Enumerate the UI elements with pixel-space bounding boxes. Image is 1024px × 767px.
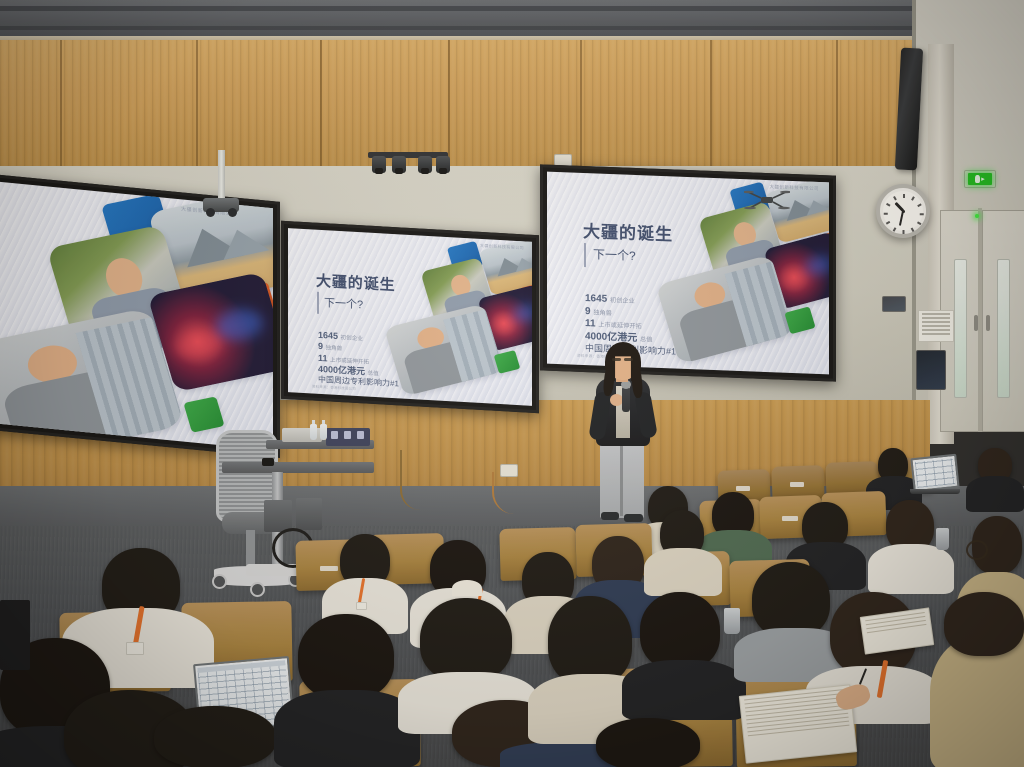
slide-accent-rule bbox=[317, 292, 319, 314]
audience-shoulders bbox=[966, 476, 1024, 512]
chair-caster bbox=[212, 574, 227, 589]
floor-equipment-case bbox=[0, 600, 30, 670]
av-cart-equipment-box bbox=[296, 498, 322, 530]
audience-head bbox=[548, 596, 632, 686]
wood-panel-seam bbox=[836, 40, 838, 168]
projector-lens-icon bbox=[228, 208, 237, 217]
exit-arrow-icon: ▸ bbox=[981, 176, 985, 183]
running-man-icon bbox=[975, 175, 980, 183]
drink-cup bbox=[936, 528, 949, 550]
ceiling-seam-2 bbox=[0, 26, 1024, 30]
slide-tile-green bbox=[784, 306, 815, 334]
left-screen-slide: 大疆创新科技有限公司 bbox=[0, 182, 273, 450]
clock-minute-hand bbox=[899, 211, 904, 226]
exit-sign-panel: ▸ bbox=[968, 173, 991, 184]
audience-head bbox=[944, 592, 1024, 656]
slide-stats-block: 1645 初创企业 9 独角兽 11 上市或延伸开拓 4000亿港元 总值 中国… bbox=[318, 330, 399, 390]
wood-panel-seam bbox=[580, 40, 582, 168]
left-projection-screen: 大疆创新科技有限公司 bbox=[0, 174, 280, 458]
seat-number-tag bbox=[782, 516, 798, 521]
water-bottle bbox=[310, 424, 317, 440]
remote-control bbox=[262, 458, 274, 466]
presenter-glasses bbox=[612, 358, 621, 361]
stage-light-icon bbox=[392, 156, 406, 173]
exit-sign: ▸ bbox=[964, 170, 996, 188]
audience-shoulders bbox=[644, 548, 722, 596]
audience-head bbox=[298, 614, 394, 700]
wall-control-panel bbox=[916, 350, 946, 390]
seat-number-tag bbox=[320, 566, 338, 571]
audience-head bbox=[640, 592, 720, 670]
audience-shoulders bbox=[622, 660, 746, 720]
audience-glasses-icon bbox=[966, 540, 988, 560]
drone-icon bbox=[744, 188, 790, 210]
door-status-led bbox=[975, 214, 979, 218]
wood-panel-seam bbox=[196, 40, 198, 168]
audience-head bbox=[154, 706, 276, 767]
chair-caster bbox=[250, 582, 265, 597]
seat-number-tag bbox=[790, 482, 804, 487]
name-badge bbox=[126, 642, 144, 655]
water-bottle bbox=[320, 424, 327, 440]
slide-tile-green bbox=[183, 396, 224, 432]
door-glass-panel bbox=[997, 259, 1010, 397]
slide-title: 大疆的诞生 bbox=[583, 217, 673, 245]
wall-clock bbox=[876, 184, 930, 238]
center-display-screen: 大疆创新科技有限公司 大疆的诞生 下一个? 1645 初创企业 9 独角兽 11… bbox=[281, 221, 539, 413]
audience-laptop bbox=[910, 454, 959, 493]
seat-number-tag bbox=[736, 486, 750, 491]
slide-title: 大疆的诞生 bbox=[316, 270, 396, 295]
slide-tile-green bbox=[494, 350, 521, 374]
audience-head bbox=[420, 598, 512, 682]
av-cart-equipment-box bbox=[264, 500, 292, 532]
center-screen-slide: 大疆创新科技有限公司 大疆的诞生 下一个? 1645 初创企业 9 独角兽 11… bbox=[288, 228, 532, 406]
audience-head bbox=[752, 562, 830, 638]
projector-lens-icon bbox=[206, 208, 215, 217]
door-glass-panel bbox=[954, 259, 967, 397]
laptop-screen-content bbox=[915, 458, 956, 488]
stage-light-icon bbox=[372, 156, 386, 173]
av-control-panel bbox=[326, 428, 370, 446]
wall-control-panel bbox=[882, 296, 906, 312]
audience-shoulders bbox=[868, 544, 954, 594]
door-handle bbox=[986, 315, 990, 331]
slide-subtitle: 下一个? bbox=[593, 245, 636, 264]
laptop-base bbox=[910, 489, 960, 494]
clock-face bbox=[883, 191, 923, 231]
wood-panel-seam bbox=[710, 40, 712, 168]
trouser-crease bbox=[620, 442, 623, 516]
laptop-screen bbox=[910, 454, 959, 493]
drink-cup bbox=[724, 608, 740, 634]
wood-panel-seam bbox=[320, 40, 322, 168]
upper-wood-wall bbox=[0, 40, 1024, 168]
door-jamb bbox=[978, 208, 982, 432]
exit-door-right bbox=[982, 210, 1024, 432]
stage-light-icon bbox=[418, 156, 432, 173]
slide-credit: 资料来源：香港科技园公司 bbox=[312, 384, 356, 391]
slide-photo-founder-2 bbox=[656, 254, 795, 364]
lecture-hall-photo: 大疆创新科技有限公司 大疆创新科技有限公司 大疆的诞生 下一个? 1645 初创… bbox=[0, 0, 1024, 767]
name-badge bbox=[356, 602, 367, 610]
presenter-glasses bbox=[624, 358, 633, 361]
presenter-shoe bbox=[601, 512, 619, 520]
presenter-shoe bbox=[624, 514, 643, 522]
slide-accent-rule bbox=[584, 243, 586, 267]
audience-head bbox=[596, 718, 700, 767]
av-cart-tabletop bbox=[222, 462, 374, 473]
projector-pole bbox=[218, 150, 225, 202]
handheld-microphone bbox=[622, 386, 630, 412]
slide-subtitle: 下一个? bbox=[324, 294, 363, 312]
wall-notice-sheet bbox=[918, 310, 954, 342]
wood-panel-seam bbox=[448, 40, 450, 168]
wood-panel-seam bbox=[60, 40, 62, 168]
hair-clip bbox=[452, 580, 482, 596]
power-cable bbox=[400, 450, 420, 510]
right-display-screen: 大疆创新科技有限公司 大疆的诞生 下一个? 1645 初创企业 9 独角兽 11… bbox=[540, 164, 836, 381]
slide-photo-founder-2 bbox=[384, 303, 504, 396]
ceiling-seam bbox=[0, 6, 1024, 11]
stage-light-icon bbox=[436, 156, 450, 173]
